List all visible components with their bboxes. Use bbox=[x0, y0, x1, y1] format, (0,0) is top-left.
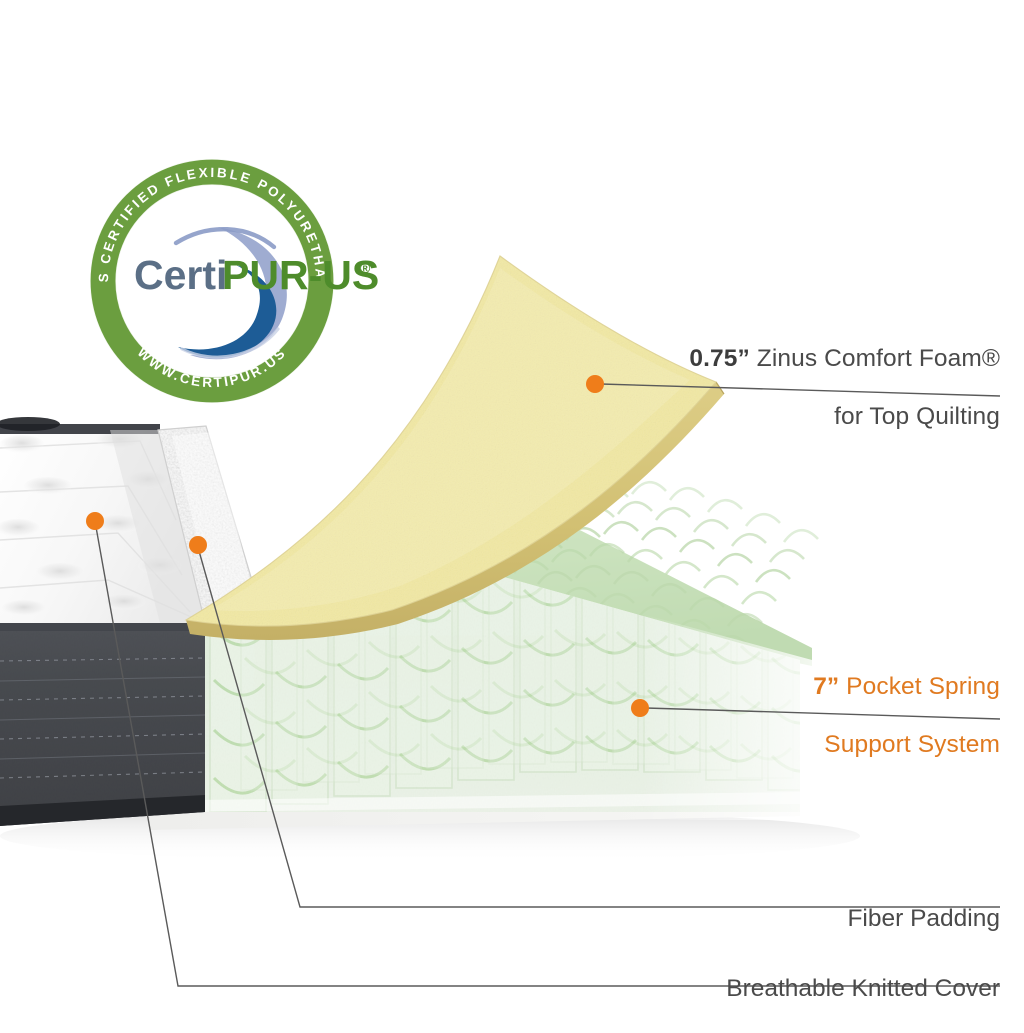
comfort-foam-name: Zinus Comfort Foam® bbox=[750, 345, 1000, 372]
comfort-foam-measure: 0.75” bbox=[689, 345, 749, 372]
mattress-cutaway-illustration: CONTAINS CERTIFIED FLEXIBLE POLYURETHANE… bbox=[0, 0, 1024, 1024]
mattress-side-panel bbox=[0, 623, 205, 826]
knitted-cover-name: Breathable Knitted Cover bbox=[540, 975, 1000, 1004]
callout-label-pocket-spring: 7” Pocket Spring Support System bbox=[580, 644, 1000, 789]
callout-dot-fiber-padding bbox=[189, 536, 207, 554]
callout-label-knitted-cover: Breathable Knitted Cover bbox=[540, 946, 1000, 1033]
callout-dot-knitted-cover bbox=[86, 512, 104, 530]
badge-wordmark: Certi PUR-US ® bbox=[134, 252, 379, 298]
certipur-us-badge: CONTAINS CERTIFIED FLEXIBLE POLYURETHANE… bbox=[90, 159, 380, 404]
pocket-spring-measure: 7” bbox=[813, 673, 839, 700]
comfort-foam-subtitle: for Top Quilting bbox=[580, 403, 1000, 432]
badge-wordmark-part1: Certi bbox=[134, 252, 227, 298]
callout-label-comfort-foam: 0.75” Zinus Comfort Foam® for Top Quilti… bbox=[580, 316, 1000, 461]
badge-registered-mark: ® bbox=[360, 260, 371, 276]
fiber-padding-name: Fiber Padding bbox=[580, 905, 1000, 934]
diagram-canvas: CONTAINS CERTIFIED FLEXIBLE POLYURETHANE… bbox=[0, 0, 1024, 1024]
pocket-spring-name: Pocket Spring bbox=[839, 673, 1000, 700]
pocket-spring-subtitle: Support System bbox=[580, 731, 1000, 760]
badge-wordmark-part2: PUR-US bbox=[222, 252, 379, 298]
